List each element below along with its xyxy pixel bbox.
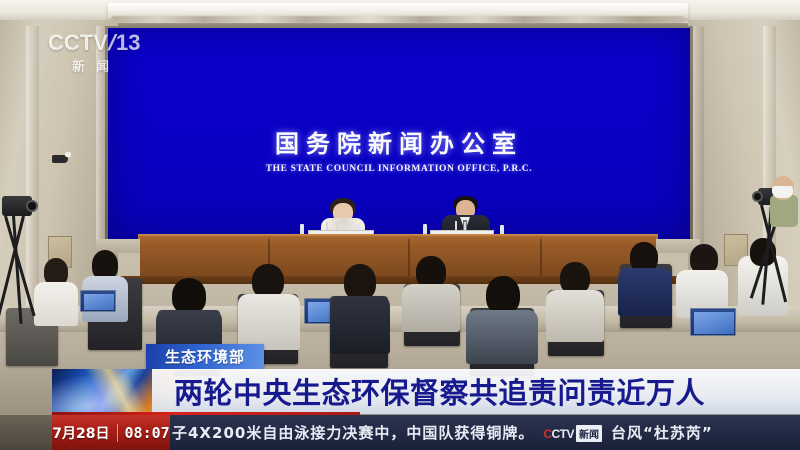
- ticker-date: 7月28日: [52, 423, 109, 443]
- lower-third-headline: 两轮中央生态环保督察共追责问责近万人: [174, 373, 705, 413]
- ticker-time: 08:07: [125, 424, 170, 442]
- broadcast-frame: 国务院新闻办公室 THE STATE COUNCIL INFORMATION O…: [0, 0, 800, 450]
- camera-lens-icon: [752, 191, 763, 202]
- lower-third-tag: 生态环境部: [146, 344, 264, 369]
- audience-body: [34, 282, 78, 326]
- lower-third-tag-label: 生态环境部: [165, 346, 245, 367]
- audience-head: [344, 264, 376, 300]
- lower-third-band: 两轮中央生态环保督察共追责问责近万人: [152, 369, 800, 414]
- audience-body: [330, 296, 390, 354]
- ticker-separator: [117, 424, 118, 442]
- audience-body: [546, 290, 604, 342]
- channel-logo-cctv: CCTV: [48, 30, 108, 55]
- channel-logo-main: CCTV/13: [48, 31, 152, 55]
- audience-head: [172, 278, 206, 314]
- audience-head: [252, 264, 284, 298]
- ticker-left-pad: [0, 415, 52, 450]
- audience-body: [238, 294, 300, 350]
- ticker-content: 子4X200米自由泳接力决赛中，中国队获得铜牌。 CCTV 新闻 台风“杜苏芮”: [172, 415, 800, 450]
- ticker-logo-cctv: CCTV: [543, 427, 574, 441]
- laptop: [690, 308, 736, 336]
- screen-title-en: THE STATE COUNCIL INFORMATION OFFICE, P.…: [266, 164, 532, 174]
- channel-logo-number: 13: [116, 31, 140, 55]
- channel-logo: CCTV/13 新闻: [48, 31, 152, 77]
- ticker-logo-news: 新闻: [576, 425, 602, 442]
- ticker-logo-ctv: CTV: [552, 427, 575, 441]
- laptop-screen: [694, 312, 734, 334]
- screen-title-cn: 国务院新闻办公室: [275, 124, 523, 159]
- camera-lens-icon: [26, 200, 38, 212]
- ticker-datetime: 7月28日 08:07: [52, 415, 170, 450]
- audience-body: [402, 284, 460, 332]
- audience-body: [618, 268, 672, 316]
- audience-area: [0, 250, 800, 385]
- audience-body: [466, 310, 538, 364]
- ticker-text-before: 子4X200米自由泳接力决赛中，中国队获得铜牌。: [172, 422, 534, 443]
- security-camera-icon: [52, 152, 74, 163]
- ticker-cctv-news-logo: CCTV 新闻: [543, 425, 602, 442]
- laptop: [80, 290, 116, 312]
- ceiling-light-strip: [112, 16, 684, 23]
- channel-logo-sub: 新闻: [72, 56, 152, 75]
- ticker-text-after: 台风“杜苏芮”: [611, 422, 713, 443]
- face-mask: [772, 186, 793, 198]
- audience-head: [486, 276, 520, 314]
- ticker-logo-c: C: [543, 427, 551, 441]
- laptop-screen: [84, 294, 114, 310]
- led-screen: 国务院新闻办公室 THE STATE COUNCIL INFORMATION O…: [108, 28, 690, 239]
